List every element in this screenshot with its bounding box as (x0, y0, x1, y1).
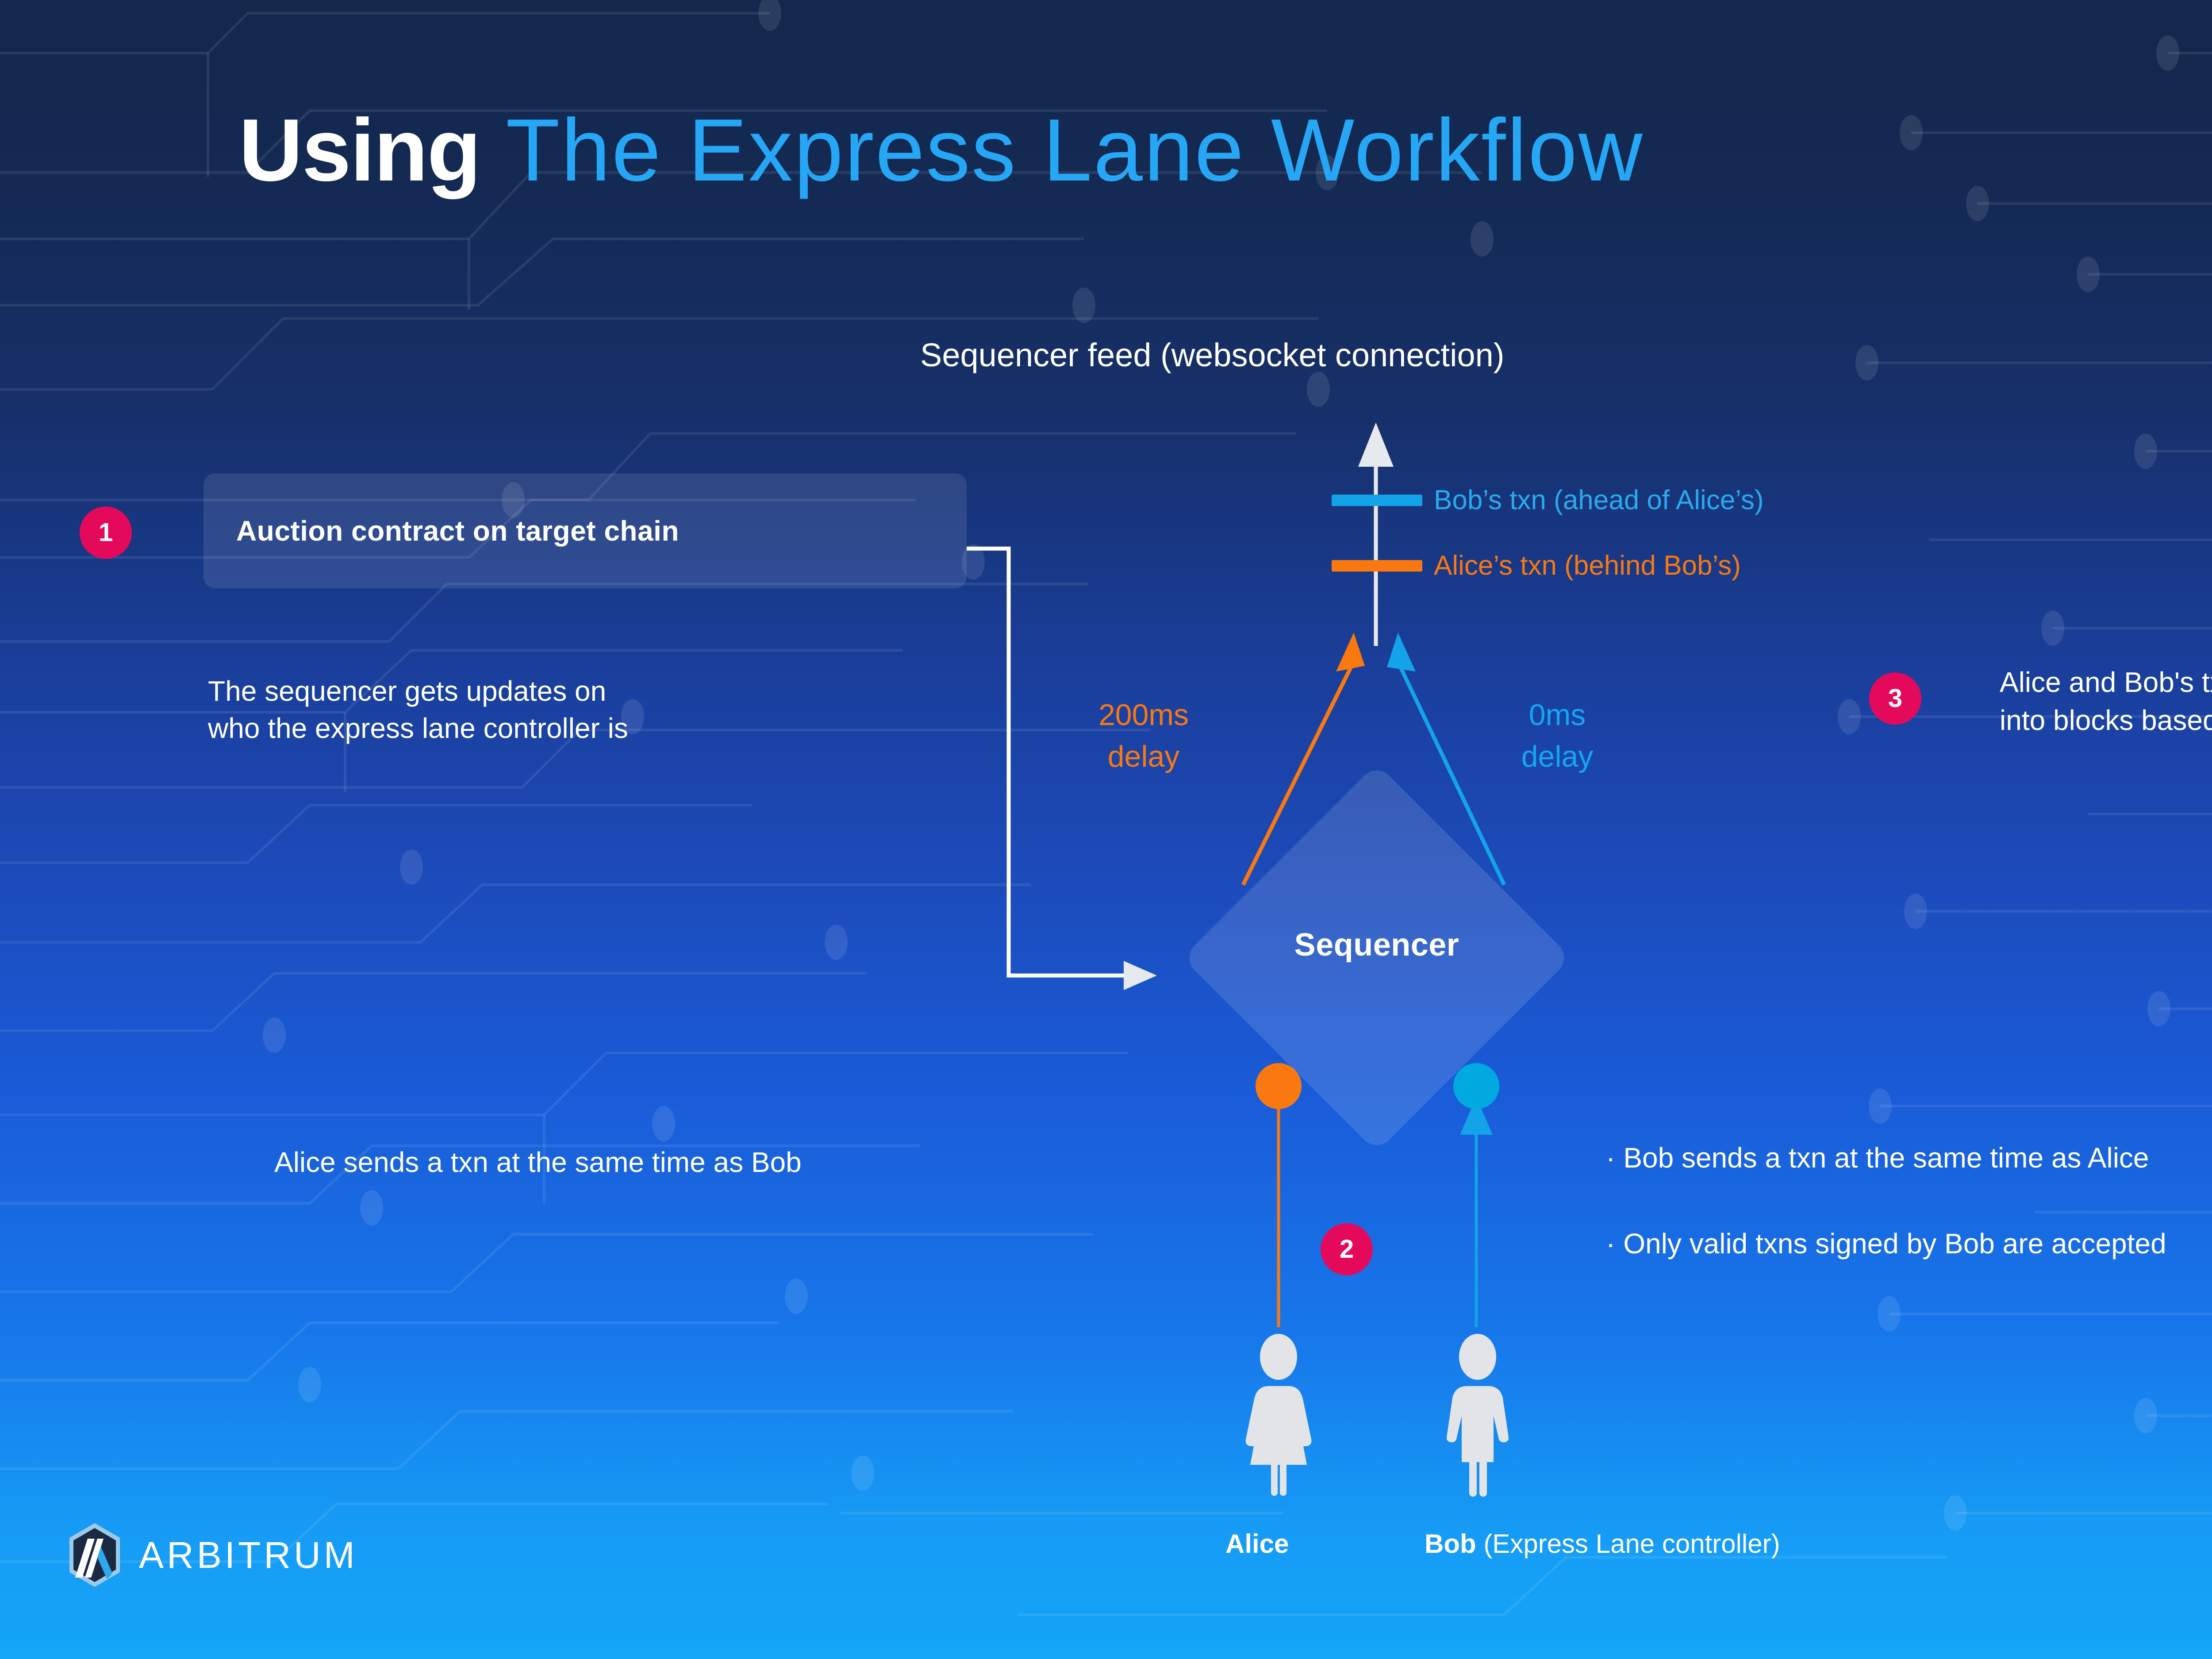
step-3-description: Alice and Bob's txns get ordered into bl… (2000, 664, 2212, 740)
diagram-connectors (0, 0, 2212, 1659)
legend-label-bobs-txn: Bob’s txn (ahead of Alice’s) (1434, 484, 1764, 516)
arbitrum-logo: ARBITRUM (66, 1522, 358, 1588)
list-item: ·Only valid txns signed by Bob are accep… (1606, 1229, 2166, 1258)
step-3-line-2: into blocks based on timestamp (2000, 702, 2212, 740)
list-item: ·Bob sends a txn at the same time as Ali… (1606, 1144, 2166, 1172)
sequencer-updates-text: The sequencer gets updates on who the ex… (208, 672, 628, 747)
sequencer-node[interactable]: Sequencer (1182, 763, 1571, 1152)
alice-delay-value: 200ms (1068, 695, 1219, 736)
bob-person-icon (1436, 1334, 1520, 1498)
alice-person-icon (1237, 1334, 1321, 1498)
arbitrum-logo-icon (66, 1522, 123, 1588)
alice-name-label: Alice (1225, 1528, 1289, 1559)
legend-item-bobs-txn: Bob’s txn (ahead of Alice’s) (1332, 484, 1764, 516)
sequencer-updates-line-1: The sequencer gets updates on (208, 672, 628, 710)
arbitrum-wordmark: ARBITRUM (139, 1534, 358, 1577)
sequencer-updates-line-2: who the express lane controller is (208, 710, 628, 747)
legend-item-alices-txn: Alice’s txn (behind Bob’s) (1332, 550, 1741, 581)
bullet-marker-icon: · (1606, 1228, 1615, 1260)
legend-dash-icon (1332, 560, 1422, 572)
step-badge-3: 3 (1869, 672, 1921, 725)
title-bold-word: Using (239, 101, 480, 200)
bullet-text: Only valid txns signed by Bob are accept… (1623, 1228, 2166, 1260)
step-3-line-1: Alice and Bob's txns get ordered (2000, 664, 2212, 702)
title-light-words: The Express Lane Workflow (506, 101, 1644, 200)
bob-name-text: Bob (1425, 1529, 1476, 1559)
auction-contract-label: Auction contract on target chain (204, 515, 679, 547)
bob-name-label: Bob (Express Lane controller) (1425, 1528, 1780, 1559)
bob-role-text: (Express Lane controller) (1483, 1529, 1780, 1559)
sequencer-feed-label: Sequencer feed (websocket connection) (920, 336, 1504, 374)
sequencer-node-label: Sequencer (1182, 927, 1571, 963)
legend-label-alices-txn: Alice’s txn (behind Bob’s) (1434, 550, 1741, 581)
legend-dash-icon (1332, 495, 1422, 506)
auction-contract-box[interactable]: Auction contract on target chain (204, 473, 967, 588)
bullet-text: Bob sends a txn at the same time as Alic… (1623, 1142, 2149, 1174)
page-title: Using The Express Lane Workflow (239, 106, 1644, 195)
bullet-marker-icon: · (1606, 1142, 1615, 1174)
circuit-background-pattern (0, 0, 2212, 1659)
alice-send-caption: Alice sends a txn at the same time as Bo… (274, 1146, 802, 1179)
bob-bullet-list: ·Bob sends a txn at the same time as Ali… (1606, 1144, 2166, 1258)
step-badge-2: 2 (1321, 1223, 1373, 1275)
feed-arrow (1358, 422, 1394, 646)
slide-canvas: Using The Express Lane Workflow Sequence… (0, 0, 2212, 1659)
bob-delay-value: 0ms (1491, 695, 1624, 736)
step-badge-1: 1 (80, 507, 132, 559)
